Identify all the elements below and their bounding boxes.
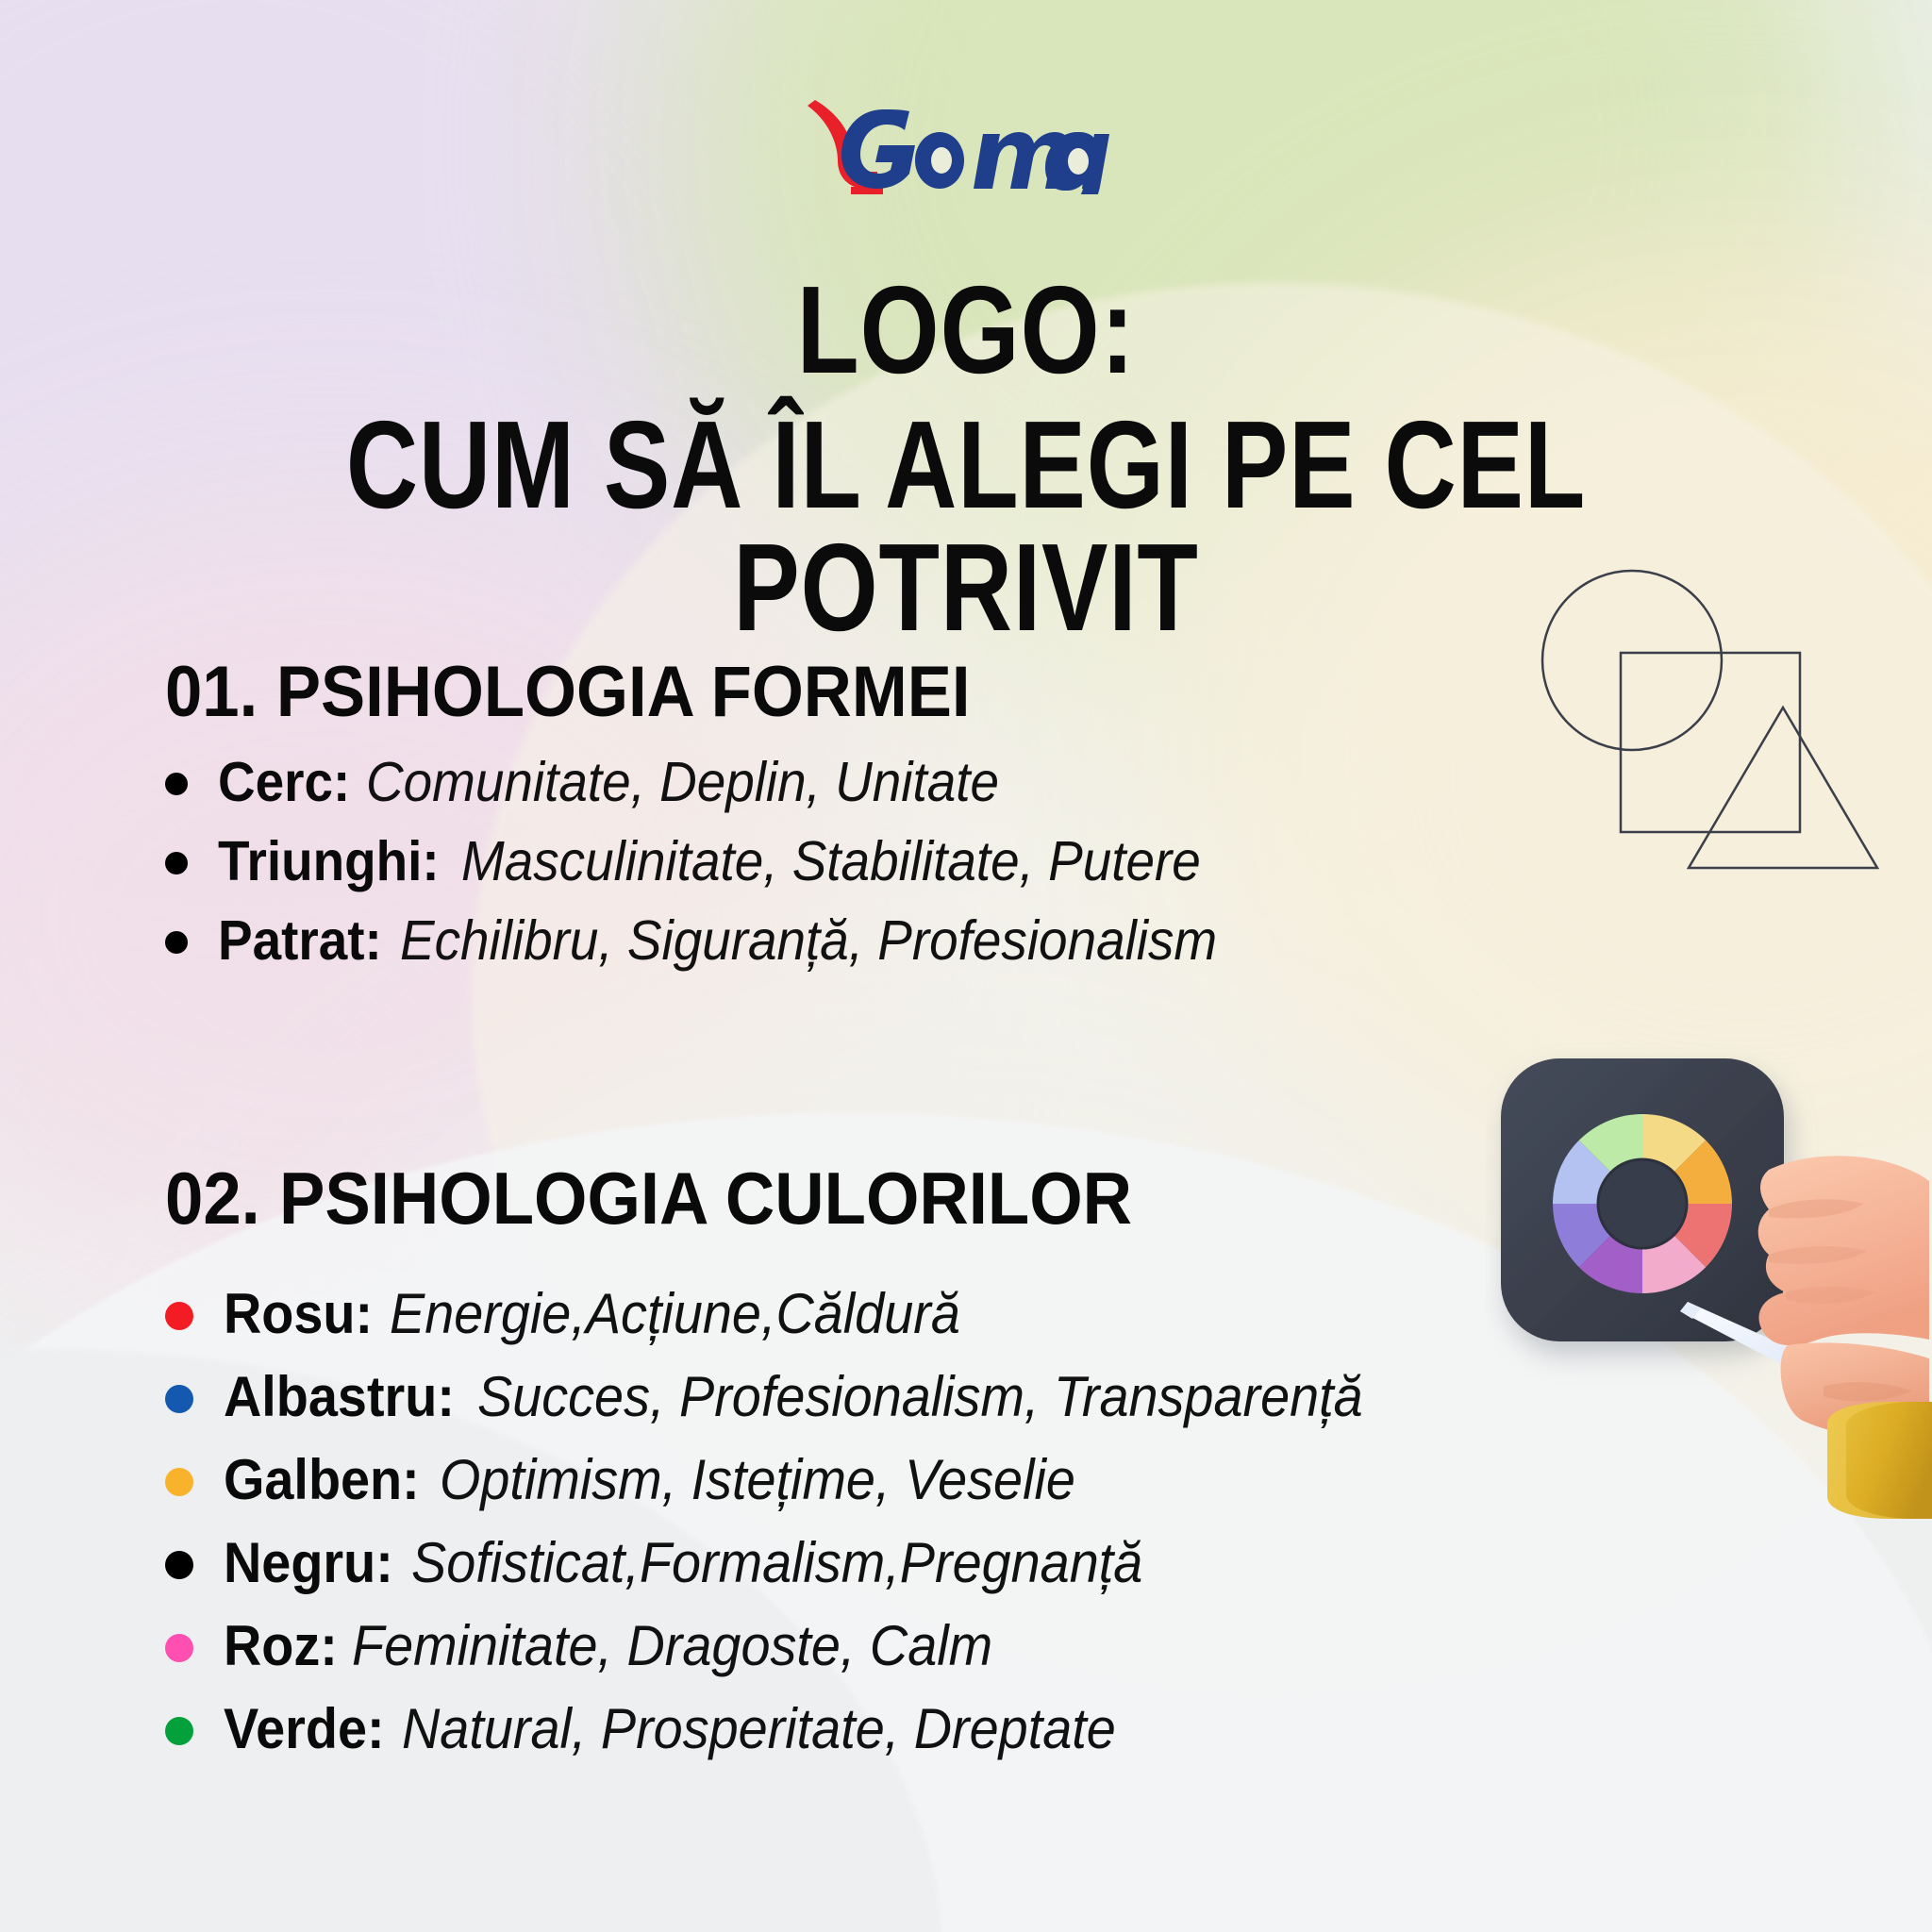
list-item-desc: Feminitate, Dragoste, Calm xyxy=(352,1613,992,1678)
list-item: Verde: Natural, Prosperitate, Dreptate xyxy=(165,1696,1430,1761)
square-outline-icon xyxy=(1621,653,1800,832)
bullet-dot xyxy=(165,852,188,874)
list-item-desc: Comunitate, Deplin, Unitate xyxy=(366,750,999,814)
list-item-desc: Optimism, Istețime, Veselie xyxy=(440,1447,1075,1512)
list-item-desc: Succes, Profesionalism, Transparență xyxy=(477,1364,1363,1429)
section-shape-psychology: 01. PSIHOLOGIA FORMEI Cerc: Comunitate, … xyxy=(165,651,1278,988)
color-list: Rosu: Energie,Acțiune,Căldură Albastru: … xyxy=(165,1281,1430,1761)
sleeve-cuff xyxy=(1827,1402,1932,1519)
page-title: LOGO: CUM SĂ ÎL ALEGI PE CEL POTRIVIT xyxy=(0,269,1932,648)
section-color-psychology: 02. PSIHOLOGIA CULORILOR Rosu: Energie,A… xyxy=(165,1156,1430,1779)
list-item-desc: Masculinitate, Stabilitate, Putere xyxy=(461,829,1201,893)
list-item: Roz: Feminitate, Dragoste, Calm xyxy=(165,1613,1430,1678)
title-line-1: LOGO: xyxy=(174,269,1757,391)
list-item: Patrat: Echilibru, Siguranță, Profesiona… xyxy=(165,908,1278,973)
list-item-label: Verde: xyxy=(224,1696,385,1761)
list-item-label: Albastru: xyxy=(224,1364,455,1429)
color-wheel-icon xyxy=(1553,1114,1732,1293)
list-item-label: Negru: xyxy=(224,1530,393,1595)
list-item-desc: Sofisticat,Formalism,Pregnanță xyxy=(411,1530,1142,1595)
list-item-desc: Natural, Prosperitate, Dreptate xyxy=(402,1696,1116,1761)
section-2-heading: 02. PSIHOLOGIA CULORILOR xyxy=(165,1156,1341,1241)
bullet-dot-green xyxy=(165,1717,193,1745)
list-item-label: Roz: xyxy=(224,1613,338,1678)
list-item-desc: Energie,Acțiune,Căldură xyxy=(390,1281,960,1346)
bullet-dot-pink xyxy=(165,1634,193,1662)
list-item: Cerc: Comunitate, Deplin, Unitate xyxy=(165,750,1278,814)
list-item: Galben: Optimism, Istețime, Veselie xyxy=(165,1447,1430,1512)
bullet-dot-red xyxy=(165,1302,193,1330)
bullet-dot xyxy=(165,773,188,795)
shape-list: Cerc: Comunitate, Deplin, Unitate Triung… xyxy=(165,750,1278,973)
list-item-label: Cerc: xyxy=(218,750,350,814)
list-item: Negru: Sofisticat,Formalism,Pregnanță xyxy=(165,1530,1430,1595)
list-item-label: Triunghi: xyxy=(218,829,440,893)
list-item: Albastru: Succes, Profesionalism, Transp… xyxy=(165,1364,1430,1429)
gomag-logo xyxy=(0,90,1932,193)
section-1-heading: 01. PSIHOLOGIA FORMEI xyxy=(165,651,1201,733)
bullet-dot-black xyxy=(165,1551,193,1579)
list-item: Triunghi: Masculinitate, Stabilitate, Pu… xyxy=(165,829,1278,893)
triangle-outline-icon xyxy=(1689,708,1877,868)
color-wheel-illustration xyxy=(1486,1028,1932,1524)
bullet-dot-blue xyxy=(165,1385,193,1413)
list-item-desc: Echilibru, Siguranță, Profesionalism xyxy=(400,908,1217,973)
gomag-logo-icon xyxy=(796,89,1136,194)
bullet-dot-yellow xyxy=(165,1468,193,1496)
list-item: Rosu: Energie,Acțiune,Căldură xyxy=(165,1281,1430,1346)
list-item-label: Galben: xyxy=(224,1447,420,1512)
title-line-2: CUM SĂ ÎL ALEGI PE CEL POTRIVIT xyxy=(193,404,1739,648)
list-item-label: Patrat: xyxy=(218,908,382,973)
list-item-label: Rosu: xyxy=(224,1281,373,1346)
bullet-dot xyxy=(165,931,188,954)
